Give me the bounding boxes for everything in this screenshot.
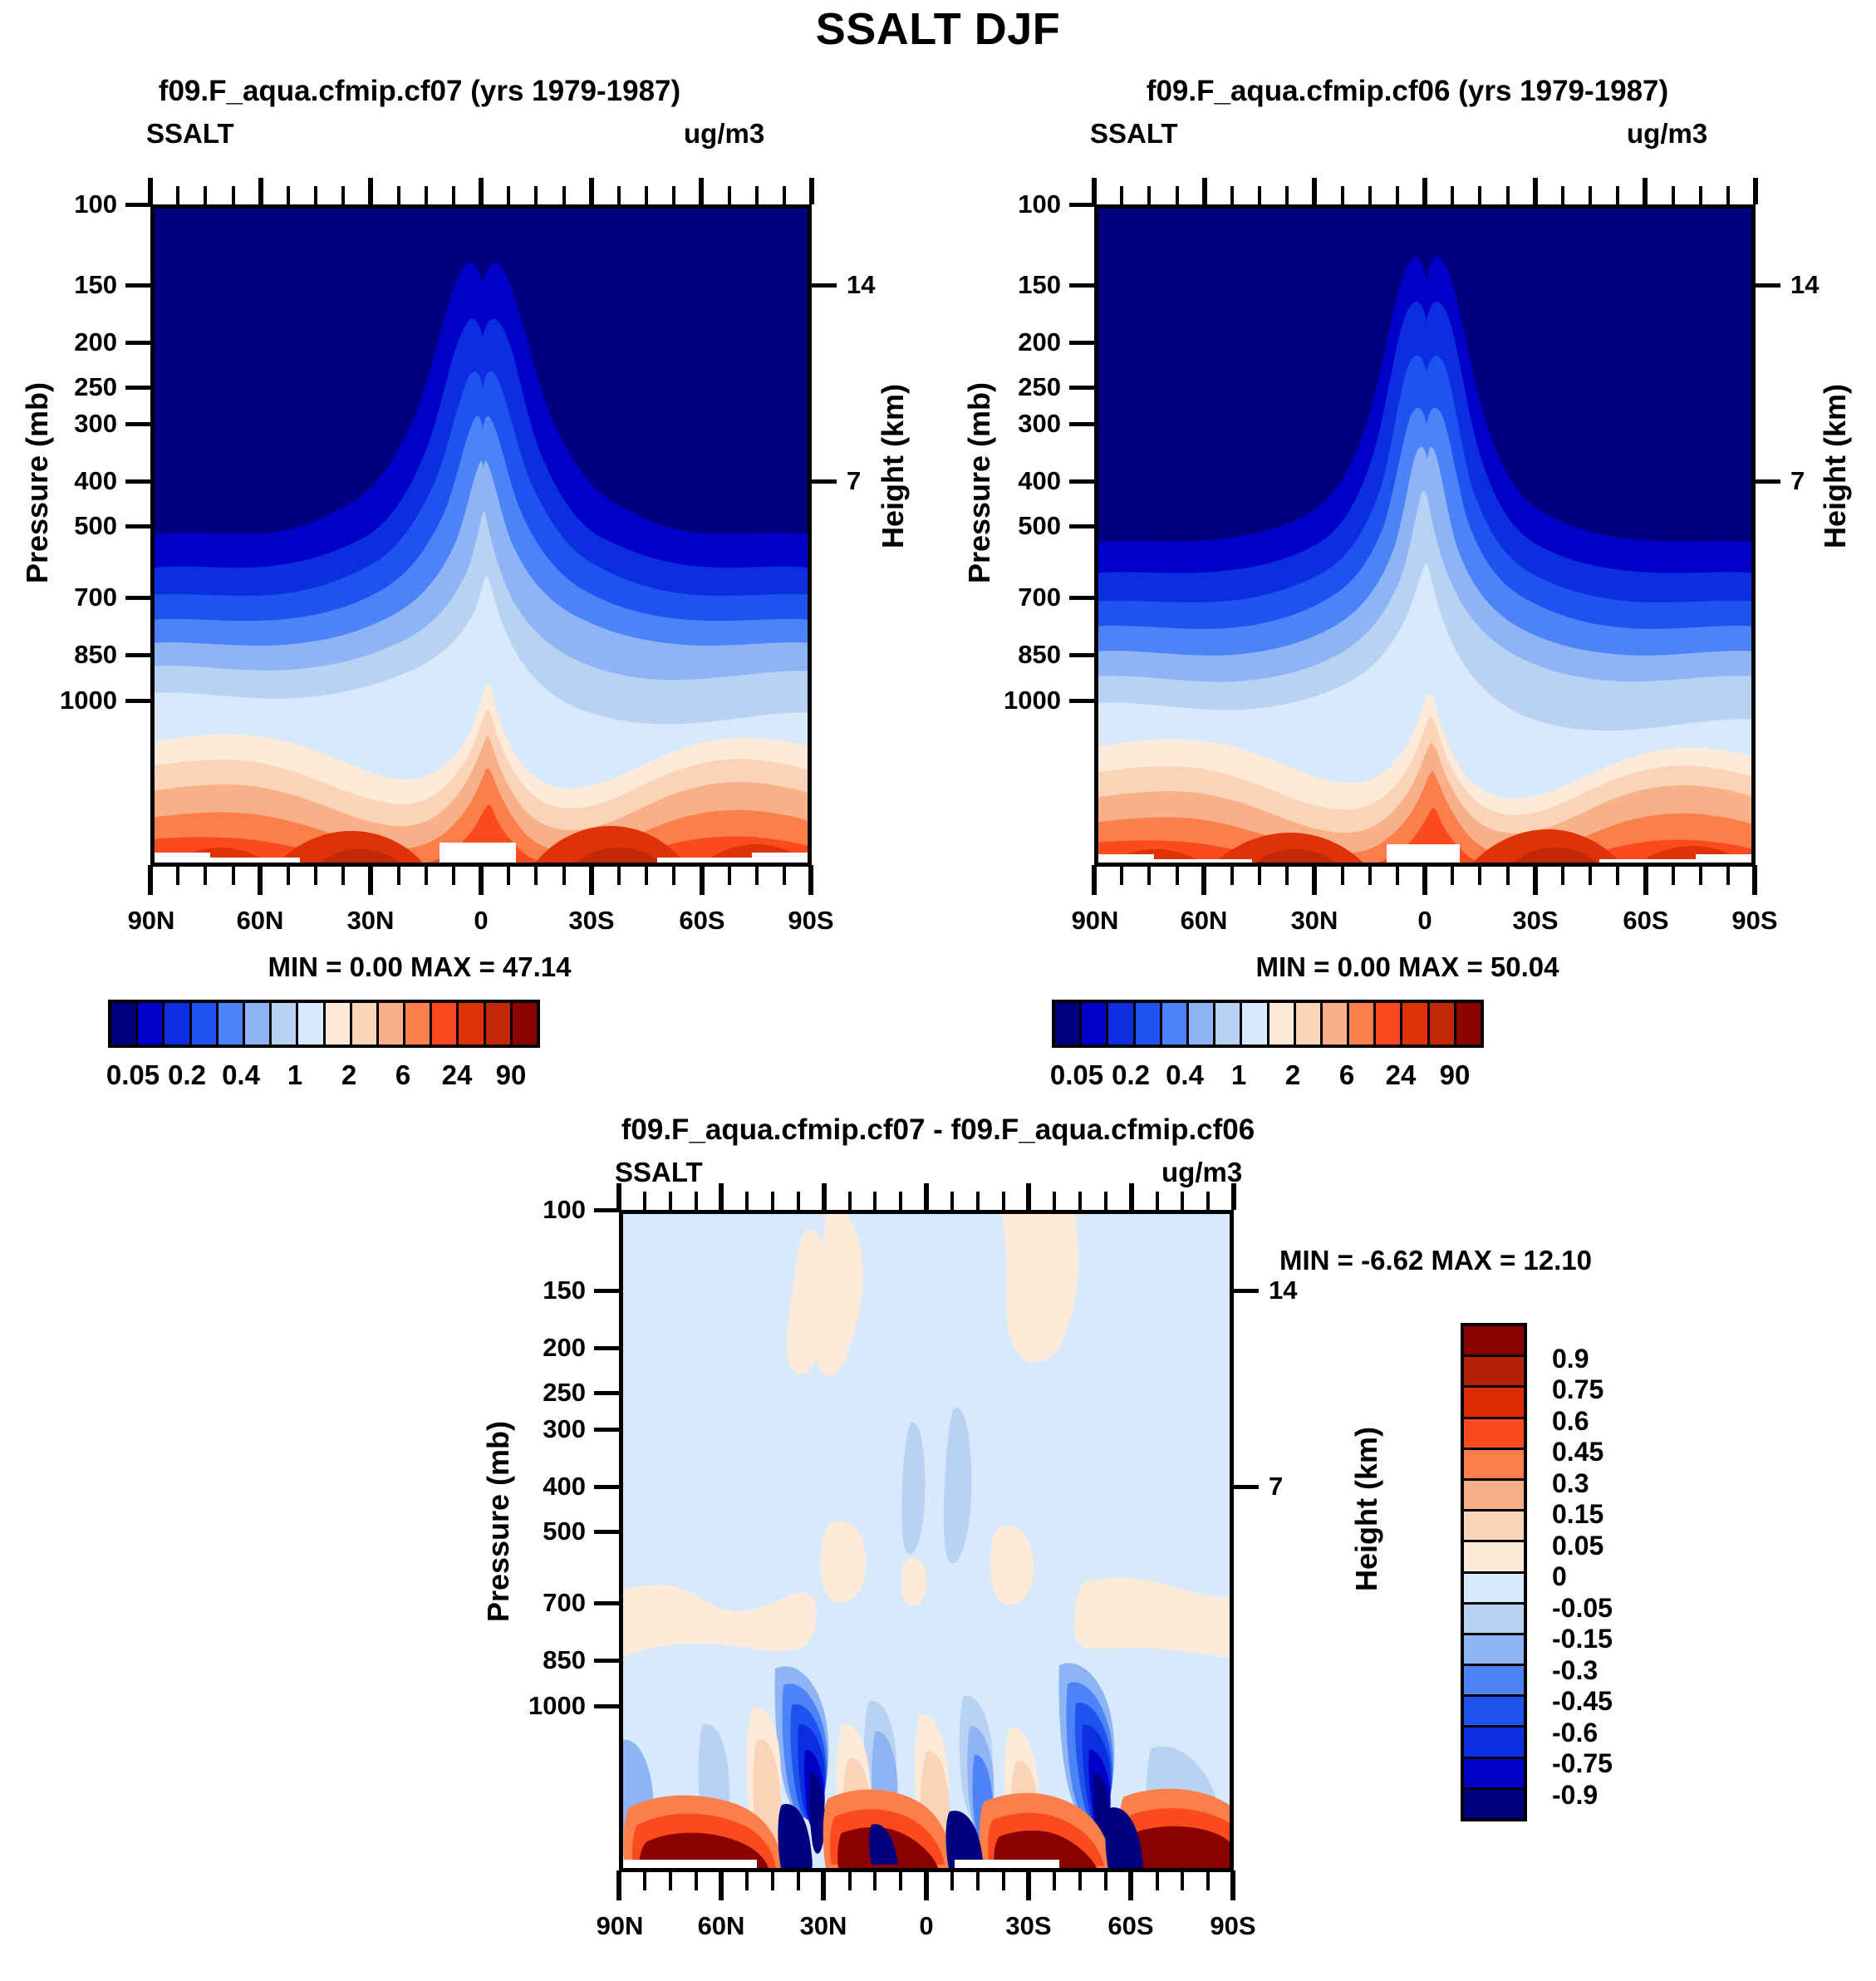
xtick-minor: [1616, 867, 1619, 885]
xtick-major-top: [148, 178, 153, 204]
xtick-minor-top: [1258, 186, 1261, 204]
xtick-minor: [1147, 867, 1151, 885]
xtick-minor-top: [672, 186, 675, 204]
ytick-label-left-700: 700: [26, 583, 117, 612]
colorbar-cell-9: [352, 1003, 379, 1045]
colorbar-cell-13: [459, 1003, 485, 1045]
xtick-minor: [1156, 1872, 1159, 1890]
xtick-minor-top: [1341, 186, 1344, 204]
xtick-minor: [1589, 867, 1592, 885]
panel-diff-colorbar[interactable]: [1461, 1323, 1527, 1821]
xtick-right-90S: [1752, 865, 1757, 895]
ytick-label-left-200: 200: [26, 327, 117, 357]
colorbar-cell-3: [192, 1003, 219, 1045]
xtick-major-top: [1202, 178, 1207, 204]
xtick-minor-top: [643, 1192, 646, 1210]
colorbar-cell-1: [138, 1003, 165, 1045]
xtick-minor: [176, 867, 179, 885]
xtick-major-top: [616, 1183, 621, 1210]
xtick-diff-60S: [1128, 1870, 1133, 1900]
ytick-right-panel-400: [1069, 479, 1096, 484]
colorbar-cell-0: [1055, 1003, 1082, 1045]
xtick-diff-30S: [1026, 1870, 1031, 1900]
xtick-minor-top: [341, 186, 345, 204]
ytick-label-diff-700: 700: [494, 1588, 586, 1618]
panel-right-colorbar[interactable]: [1052, 1000, 1484, 1048]
xtick-minor: [314, 867, 317, 885]
xtick-diff-60N: [719, 1870, 724, 1900]
colorbar-cell-10: [1323, 1003, 1349, 1045]
xtick-minor: [899, 1872, 902, 1890]
ytick-right-panel-200: [1069, 341, 1096, 345]
colorbar-cell-2: [165, 1003, 191, 1045]
figure-root: SSALT DJF f09.F_aqua.cfmip.cf07 (yrs 197…: [0, 0, 1876, 1981]
xtick-major-top: [719, 1183, 724, 1210]
xtick-label-right-60N: 60N: [1156, 906, 1252, 936]
xtick-minor-top: [452, 186, 455, 204]
xtick-minor: [425, 867, 428, 885]
panel-left-contours: [150, 204, 812, 867]
ytick-diff-700: [594, 1601, 621, 1605]
xtick-minor-top: [1672, 186, 1675, 204]
ytick-right-panel-500: [1069, 524, 1096, 528]
xtick-major-top: [1643, 178, 1648, 204]
colorbar-cell-5: [1464, 1481, 1524, 1512]
ytick-label-left-100: 100: [26, 189, 117, 219]
colorbar-cell-7: [298, 1003, 325, 1045]
colorbar-cell-3: [1464, 1419, 1524, 1450]
panel-diff-contours: [619, 1210, 1234, 1872]
colorbar-cell-0: [1464, 1326, 1524, 1357]
xtick-minor-top: [1156, 1192, 1159, 1210]
colorbar-cell-4: [1162, 1003, 1189, 1045]
xtick-label-diff-30S: 30S: [980, 1911, 1077, 1941]
ytick-right-panel-300: [1069, 422, 1096, 426]
ytick-right-7: [810, 479, 837, 484]
ytick-right-panel-700: [1069, 596, 1096, 600]
xtick-minor: [1368, 867, 1372, 885]
xtick-label-diff-90S: 90S: [1185, 1911, 1281, 1941]
xtick-minor: [232, 867, 235, 885]
xtick-minor-top: [797, 1192, 800, 1210]
colorbar-cell-8: [1269, 1003, 1296, 1045]
xtick-minor: [755, 867, 759, 885]
colorbar-cell-13: [1402, 1003, 1429, 1045]
colorbar-label-diff-4: 0.3: [1552, 1468, 1589, 1499]
ytick-label-diff-400: 400: [494, 1472, 586, 1502]
xtick-minor: [1104, 1872, 1107, 1890]
colorbar-cell-14: [1464, 1759, 1524, 1790]
ytick-left-250: [125, 386, 152, 390]
xtick-left-90S: [808, 865, 813, 895]
ytick-label-diff-h7: 7: [1269, 1472, 1283, 1502]
xtick-minor: [1285, 867, 1289, 885]
ytick-label-diff-500: 500: [494, 1516, 586, 1546]
ytick-diff-250: [594, 1391, 621, 1395]
panel-left-units-label: ug/m3: [684, 118, 764, 150]
colorbar-cell-1: [1082, 1003, 1108, 1045]
ytick-diff-1000: [594, 1704, 621, 1708]
colorbar-cell-10: [379, 1003, 405, 1045]
xtick-minor: [1230, 867, 1234, 885]
xtick-minor: [452, 867, 455, 885]
colorbar-cell-9: [1464, 1605, 1524, 1635]
ytick-right-panel-h7: [1754, 479, 1780, 484]
xtick-minor: [1002, 1872, 1005, 1890]
xtick-left-60N: [258, 865, 263, 895]
xtick-diff-90S: [1230, 1870, 1235, 1900]
colorbar-label-diff-8: -0.05: [1552, 1593, 1613, 1624]
colorbar-label-diff-13: -0.75: [1552, 1748, 1613, 1779]
xtick-minor: [1078, 1872, 1082, 1890]
xtick-minor-top: [1561, 186, 1564, 204]
xtick-major-top: [809, 178, 814, 204]
colorbar-cell-10: [1464, 1635, 1524, 1666]
colorbar-cell-12: [1376, 1003, 1402, 1045]
xtick-label-right-90N: 90N: [1047, 906, 1143, 936]
xtick-left-90N: [148, 865, 153, 895]
panel-right-units-label: ug/m3: [1627, 118, 1707, 150]
xtick-major-top: [1533, 178, 1538, 204]
xtick-minor-top: [1053, 1192, 1056, 1210]
xtick-minor: [562, 867, 566, 885]
xtick-major-top: [1026, 1183, 1031, 1210]
ytick-left-150: [125, 283, 152, 288]
xtick-major-top: [1129, 1183, 1134, 1210]
xtick-right-0: [1422, 865, 1427, 895]
xtick-minor: [287, 867, 290, 885]
xtick-right-30N: [1312, 865, 1317, 895]
xtick-minor: [1053, 1872, 1056, 1890]
ytick-label-right-7: 7: [847, 466, 861, 496]
colorbar-cell-2: [1108, 1003, 1135, 1045]
xtick-major-top: [479, 178, 484, 204]
ytick-label-right-panel-h7: 7: [1790, 466, 1805, 496]
xtick-minor-top: [1120, 186, 1123, 204]
xtick-minor-top: [669, 1192, 672, 1210]
xtick-minor-top: [1285, 186, 1289, 204]
ytick-label-left-850: 850: [26, 640, 117, 670]
xtick-minor-top: [287, 186, 290, 204]
xtick-left-30S: [589, 865, 594, 895]
xtick-minor: [1672, 867, 1675, 885]
ytick-label-diff-h14: 14: [1269, 1276, 1297, 1305]
colorbar-cell-15: [1464, 1790, 1524, 1818]
xtick-minor: [645, 867, 648, 885]
panel-diff-var-label: SSALT: [615, 1157, 703, 1188]
xtick-minor-top: [397, 186, 400, 204]
colorbar-label-diff-7: 0: [1552, 1561, 1567, 1592]
ytick-diff-400: [594, 1485, 621, 1489]
xtick-minor: [695, 1872, 698, 1890]
xtick-minor: [1396, 867, 1399, 885]
ytick-label-left-250: 250: [26, 372, 117, 402]
colorbar-label-diff-3: 0.45: [1552, 1437, 1603, 1467]
ytick-diff-h14: [1232, 1289, 1259, 1293]
xtick-minor-top: [1589, 186, 1592, 204]
ytick-label-left-1000: 1000: [9, 686, 117, 715]
xtick-major-top: [1312, 178, 1317, 204]
colorbar-cell-5: [1189, 1003, 1215, 1045]
panel-right: f09.F_aqua.cfmip.cf06 (yrs 1979-1987) SS…: [938, 75, 1876, 1130]
xtick-minor: [534, 867, 538, 885]
ytick-label-right-panel-1000: 1000: [953, 686, 1061, 715]
panel-left-colorbar[interactable]: [108, 1000, 540, 1048]
xtick-left-30N: [368, 865, 373, 895]
panel-right-var-label: SSALT: [1090, 118, 1178, 150]
xtick-minor-top: [1699, 186, 1702, 204]
xtick-label-right-30N: 30N: [1266, 906, 1363, 936]
colorbar-cell-14: [486, 1003, 513, 1045]
xtick-minor: [1506, 867, 1510, 885]
xtick-minor-top: [534, 186, 538, 204]
colorbar-cell-13: [1464, 1728, 1524, 1758]
xtick-minor: [771, 1872, 774, 1890]
colorbar-cell-4: [219, 1003, 245, 1045]
panel-left-ylabel-right: Height (km): [876, 342, 911, 591]
ytick-label-right-panel-250: 250: [970, 372, 1061, 402]
colorbar-cell-15: [1456, 1003, 1481, 1045]
ytick-label-right-panel-850: 850: [970, 640, 1061, 670]
colorbar-label-diff-6: 0.05: [1552, 1531, 1603, 1561]
xtick-label-left-0: 0: [433, 906, 529, 936]
xtick-minor-top: [848, 1192, 852, 1210]
xtick-minor-top: [1147, 186, 1151, 204]
ytick-left-200: [125, 341, 152, 345]
xtick-minor: [873, 1872, 877, 1890]
xtick-label-left-90N: 90N: [103, 906, 199, 936]
panel-right-minmax: MIN = 0.00 MAX = 50.04: [988, 951, 1827, 983]
ytick-label-diff-1000: 1000: [478, 1691, 586, 1721]
xtick-minor: [1206, 1872, 1210, 1890]
xtick-minor-top: [755, 186, 759, 204]
xtick-minor-top: [1368, 186, 1372, 204]
xtick-minor-top: [645, 186, 648, 204]
xtick-minor: [848, 1872, 852, 1890]
xtick-label-left-30N: 30N: [322, 906, 419, 936]
ytick-left-850: [125, 653, 152, 657]
panel-diff-minmax: MIN = -6.62 MAX = 12.10: [1279, 1245, 1745, 1276]
panel-diff: f09.F_aqua.cfmip.cf07 - f09.F_aqua.cfmip…: [0, 1113, 1876, 1981]
xtick-minor-top: [695, 1192, 698, 1210]
xtick-minor-top: [745, 1192, 749, 1210]
colorbar-cell-12: [432, 1003, 459, 1045]
xtick-label-left-60S: 60S: [654, 906, 750, 936]
xtick-minor: [976, 1872, 980, 1890]
xtick-minor: [669, 1872, 672, 1890]
xtick-label-right-0: 0: [1377, 906, 1473, 936]
xtick-minor-top: [1616, 186, 1619, 204]
colorbar-cell-6: [272, 1003, 298, 1045]
xtick-left-0: [479, 865, 484, 895]
xtick-minor: [783, 867, 786, 885]
xtick-major-top: [1753, 178, 1758, 204]
ytick-label-right-panel-150: 150: [970, 270, 1061, 300]
xtick-minor: [643, 1872, 646, 1890]
panel-right-ylabel-right: Height (km): [1818, 342, 1853, 591]
xtick-minor: [1258, 867, 1261, 885]
xtick-label-diff-90N: 90N: [572, 1911, 668, 1941]
xtick-minor-top: [783, 186, 786, 204]
xtick-diff-30N: [821, 1870, 826, 1900]
ytick-left-1000: [125, 699, 152, 703]
colorbar-cell-15: [513, 1003, 537, 1045]
xtick-label-left-30S: 30S: [543, 906, 640, 936]
xtick-minor: [1176, 867, 1179, 885]
colorbar-cell-11: [405, 1003, 432, 1045]
xtick-major-top: [822, 1183, 827, 1210]
colorbar-cell-8: [326, 1003, 352, 1045]
ytick-label-diff-100: 100: [494, 1195, 586, 1225]
xtick-minor: [1341, 867, 1344, 885]
xtick-minor-top: [873, 1192, 877, 1210]
panel-right-plot[interactable]: [1094, 204, 1756, 867]
xtick-label-right-30S: 30S: [1487, 906, 1584, 936]
xtick-right-60S: [1643, 865, 1648, 895]
xtick-diff-90N: [616, 1870, 621, 1900]
ytick-diff-150: [594, 1289, 621, 1293]
ytick-diff-500: [594, 1530, 621, 1534]
ytick-diff-h7: [1232, 1485, 1259, 1489]
ytick-right-panel-h14: [1754, 283, 1780, 288]
colorbar-cell-5: [245, 1003, 272, 1045]
xtick-minor-top: [771, 1192, 774, 1210]
xtick-right-60N: [1201, 865, 1206, 895]
xtick-minor: [728, 867, 731, 885]
colorbar-cell-3: [1136, 1003, 1162, 1045]
xtick-minor: [1120, 867, 1123, 885]
ytick-label-diff-850: 850: [494, 1645, 586, 1675]
ytick-label-left-150: 150: [26, 270, 117, 300]
xtick-major-top: [258, 178, 263, 204]
colorbar-label-diff-0: 0.9: [1552, 1344, 1589, 1374]
xtick-minor-top: [899, 1192, 902, 1210]
xtick-minor-top: [950, 1192, 954, 1210]
ytick-right-panel-1000: [1069, 699, 1096, 703]
colorbar-label-diff-11: -0.45: [1552, 1686, 1613, 1717]
colorbar-label-diff-2: 0.6: [1552, 1406, 1589, 1437]
xtick-minor-top: [176, 186, 179, 204]
xtick-minor-top: [617, 186, 621, 204]
xtick-label-right-90S: 90S: [1707, 906, 1803, 936]
xtick-minor-top: [562, 186, 566, 204]
xtick-minor-top: [1104, 1192, 1107, 1210]
xtick-minor-top: [976, 1192, 980, 1210]
ytick-label-left-500: 500: [26, 511, 117, 541]
xtick-minor-top: [1451, 186, 1454, 204]
xtick-minor: [672, 867, 675, 885]
ytick-label-right-panel-h14: 14: [1790, 270, 1819, 300]
xtick-minor: [797, 1872, 800, 1890]
colorbar-cell-0: [111, 1003, 138, 1045]
xtick-minor: [950, 1872, 954, 1890]
ytick-right-panel-250: [1069, 386, 1096, 390]
panel-diff-ylabel-right: Height (km): [1349, 1384, 1384, 1634]
xtick-major-top: [1422, 178, 1427, 204]
panel-right-title: f09.F_aqua.cfmip.cf06 (yrs 1979-1987): [988, 75, 1827, 108]
xtick-minor-top: [1181, 1192, 1184, 1210]
colorbar-cell-2: [1464, 1388, 1524, 1418]
xtick-minor: [1726, 867, 1730, 885]
colorbar-cell-7: [1242, 1003, 1269, 1045]
ytick-left-700: [125, 596, 152, 600]
xtick-label-left-90S: 90S: [763, 906, 859, 936]
xtick-major-top: [699, 178, 704, 204]
xtick-minor-top: [1230, 186, 1234, 204]
xtick-label-diff-60N: 60N: [673, 1911, 769, 1941]
xtick-minor: [1181, 1872, 1184, 1890]
panel-right-contours: [1094, 204, 1756, 867]
xtick-major-top: [368, 178, 373, 204]
xtick-major-top: [1092, 178, 1097, 204]
colorbar-label-diff-1: 0.75: [1552, 1374, 1603, 1405]
panel-diff-title: f09.F_aqua.cfmip.cf07 - f09.F_aqua.cfmip…: [0, 1113, 1876, 1147]
xtick-label-diff-30N: 30N: [775, 1911, 872, 1941]
xtick-minor-top: [1726, 186, 1730, 204]
ytick-right-panel-850: [1069, 653, 1096, 657]
panel-diff-plot[interactable]: [619, 1210, 1234, 1872]
xtick-minor: [397, 867, 400, 885]
xtick-minor: [204, 867, 207, 885]
colorbar-cell-12: [1464, 1697, 1524, 1728]
ytick-diff-300: [594, 1428, 621, 1432]
xtick-minor: [617, 867, 621, 885]
panel-diff-units-label: ug/m3: [1161, 1157, 1242, 1188]
xtick-minor-top: [1478, 186, 1481, 204]
xtick-minor-top: [1206, 1192, 1210, 1210]
colorbar-cell-8: [1464, 1574, 1524, 1605]
colorbar-label-diff-9: -0.15: [1552, 1624, 1613, 1654]
xtick-right-30S: [1533, 865, 1538, 895]
panel-left-var-label: SSALT: [146, 118, 234, 150]
panel-left-plot[interactable]: [150, 204, 812, 867]
ytick-left-400: [125, 479, 152, 484]
colorbar-label-left-7: 90: [461, 1059, 561, 1091]
colorbar-label-right-7: 90: [1405, 1059, 1505, 1091]
xtick-minor-top: [728, 186, 731, 204]
xtick-major-top: [924, 1183, 929, 1210]
ytick-right-panel-150: [1069, 283, 1096, 288]
xtick-minor: [1451, 867, 1454, 885]
ytick-label-diff-250: 250: [494, 1378, 586, 1408]
xtick-minor-top: [1506, 186, 1510, 204]
xtick-major-top: [1231, 1183, 1236, 1210]
xtick-minor-top: [314, 186, 317, 204]
colorbar-cell-14: [1430, 1003, 1456, 1045]
xtick-minor-top: [232, 186, 235, 204]
xtick-minor-top: [1396, 186, 1399, 204]
xtick-label-diff-60S: 60S: [1083, 1911, 1179, 1941]
ytick-label-diff-300: 300: [494, 1414, 586, 1444]
panel-left-title: f09.F_aqua.cfmip.cf07 (yrs 1979-1987): [0, 75, 839, 108]
ytick-label-right-panel-200: 200: [970, 327, 1061, 357]
colorbar-label-diff-10: -0.3: [1552, 1655, 1598, 1686]
xtick-minor-top: [425, 186, 428, 204]
colorbar-cell-6: [1464, 1512, 1524, 1542]
xtick-minor-top: [1002, 1192, 1005, 1210]
colorbar-label-diff-12: -0.6: [1552, 1718, 1598, 1748]
xtick-minor: [1699, 867, 1702, 885]
xtick-minor: [1478, 867, 1481, 885]
ytick-left-500: [125, 524, 152, 528]
colorbar-cell-9: [1296, 1003, 1323, 1045]
ytick-right-14: [810, 283, 837, 288]
xtick-minor-top: [1078, 1192, 1082, 1210]
xtick-minor: [507, 867, 510, 885]
colorbar-cell-11: [1349, 1003, 1376, 1045]
ytick-label-right-14: 14: [847, 270, 875, 300]
xtick-left-60S: [700, 865, 705, 895]
